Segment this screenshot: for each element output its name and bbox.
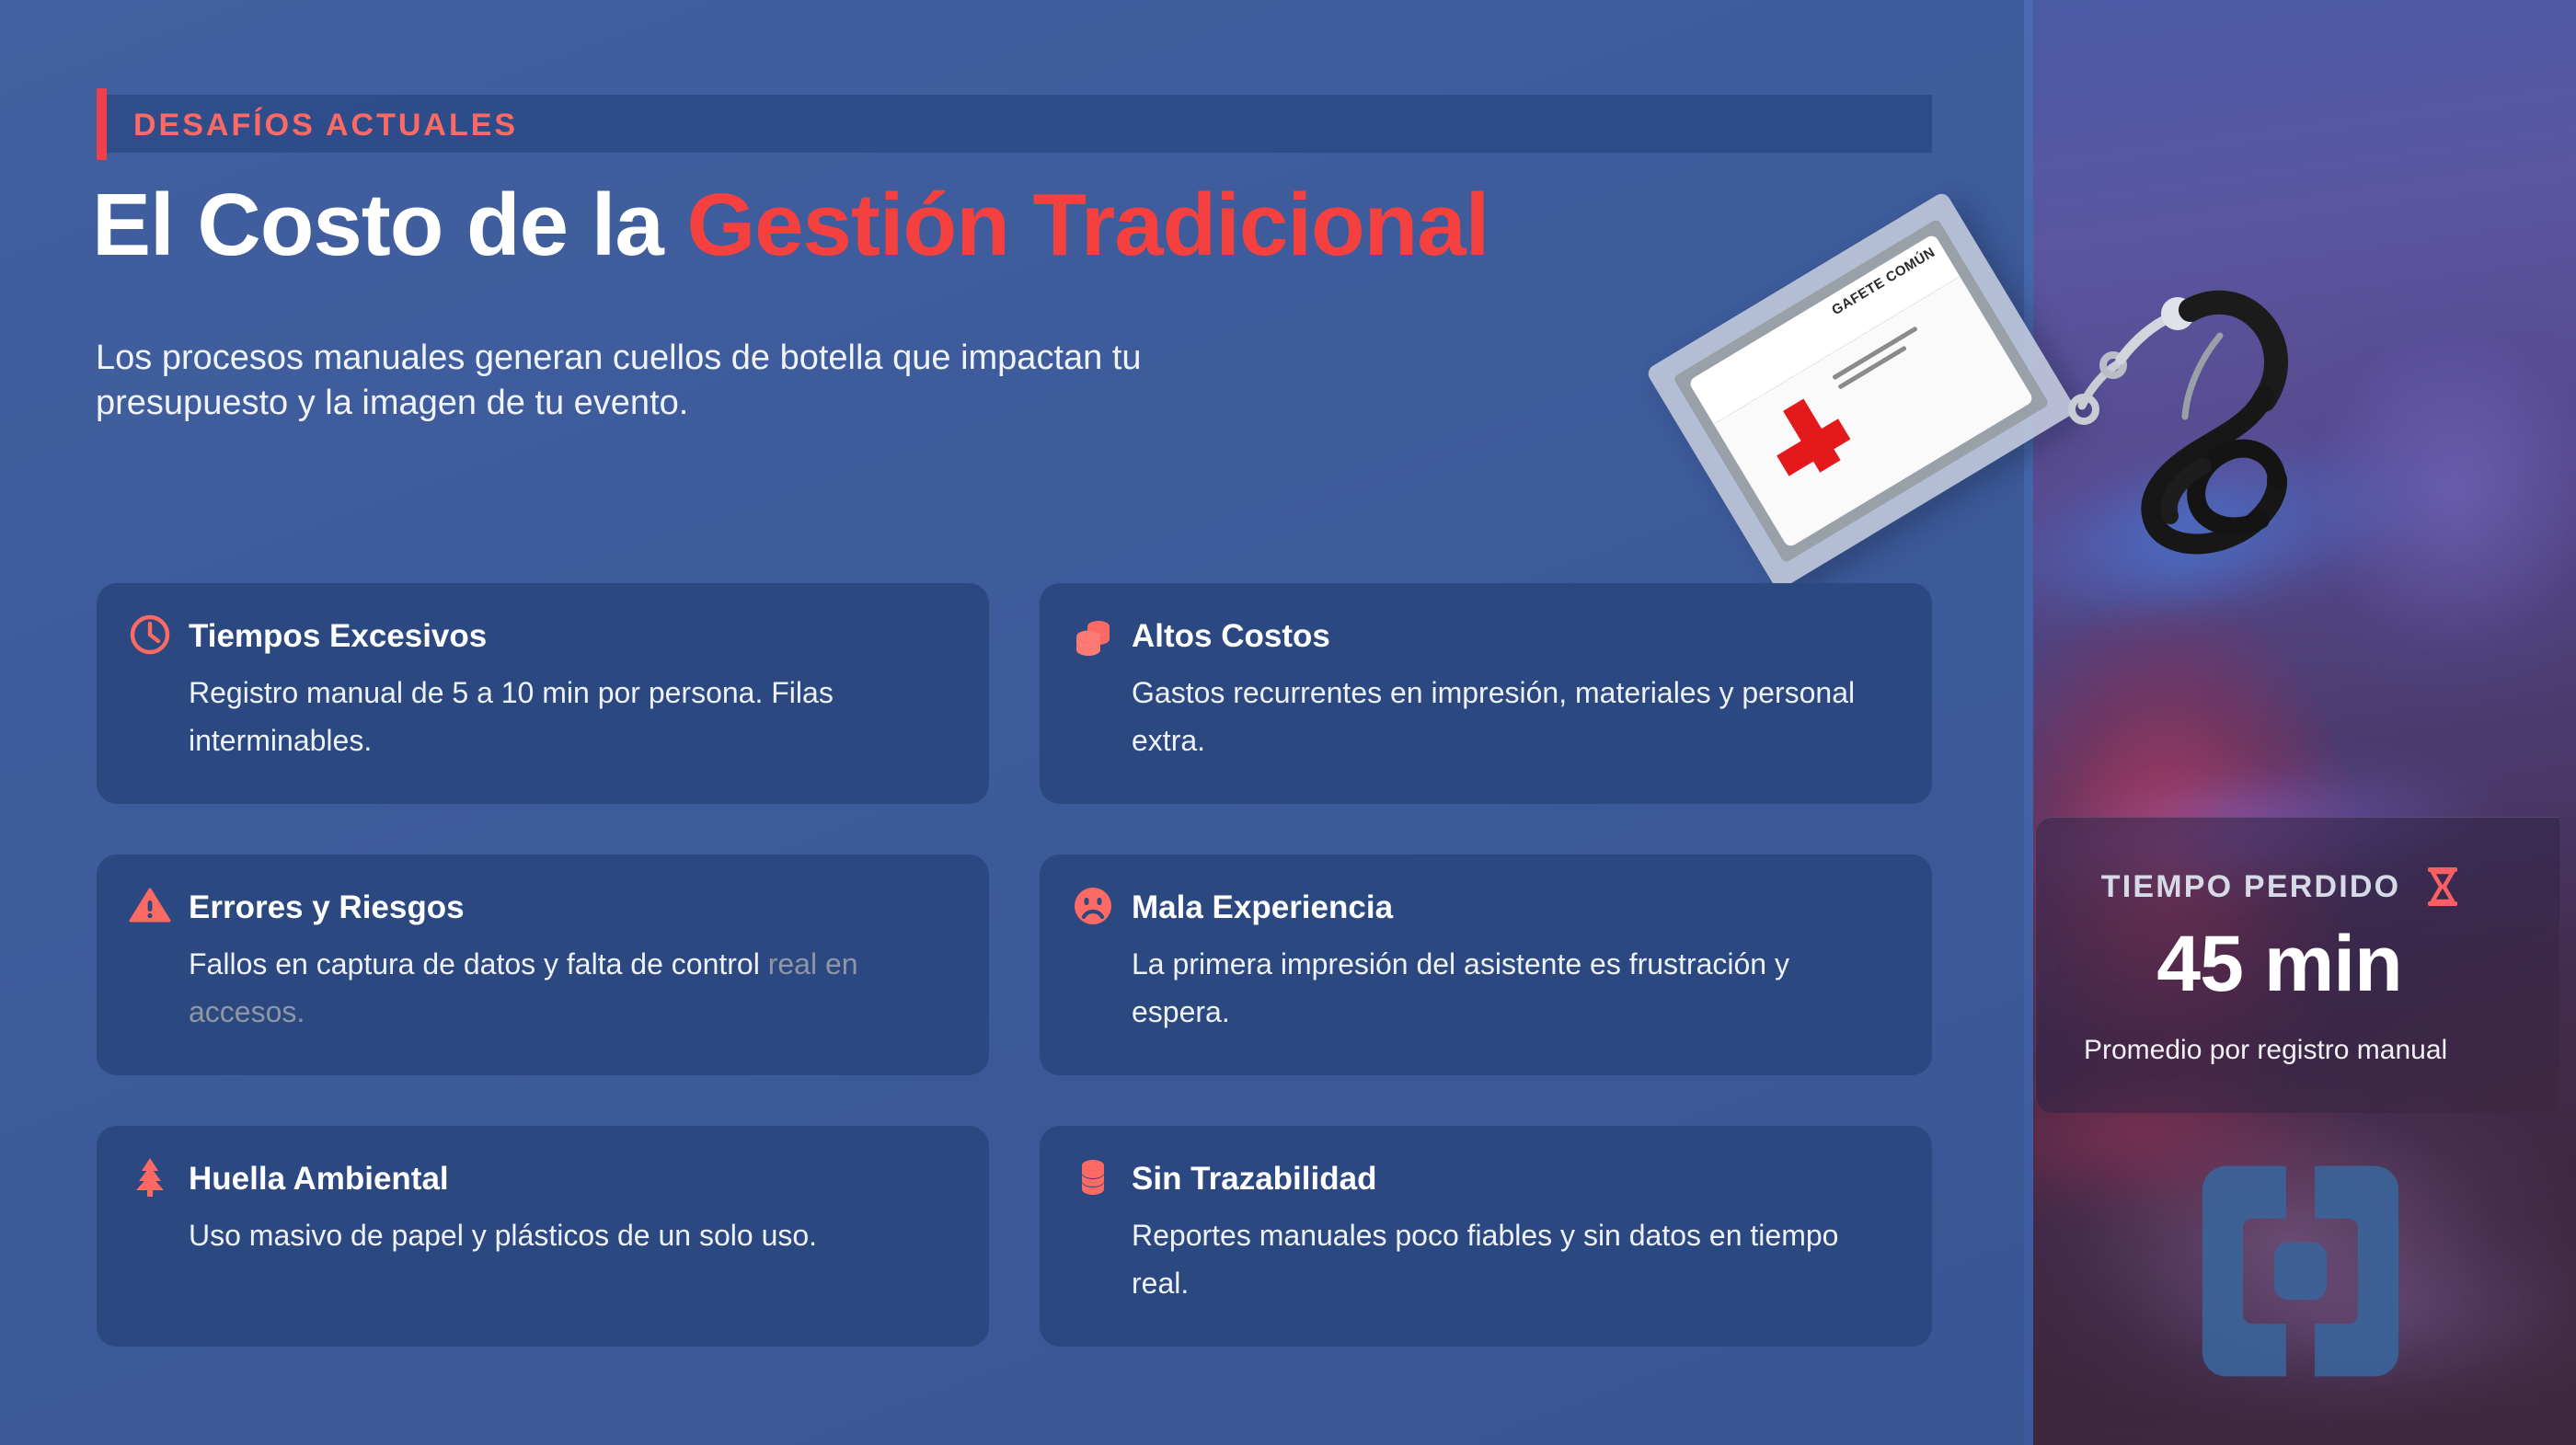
card-description: Registro manual de 5 a 10 min por person… — [189, 670, 952, 765]
card-header: Sin Trazabilidad — [1071, 1159, 1895, 1199]
lanyard-icon — [1973, 225, 2369, 612]
page-title: El Costo de la Gestión Tradicional — [92, 175, 1489, 276]
card-title: Altos Costos — [1132, 616, 1330, 655]
card-header: Tiempos Excesivos — [128, 616, 952, 657]
pine-tree-icon — [128, 1155, 172, 1199]
card-description: Reportes manuales poco fiables y sin dat… — [1132, 1212, 1895, 1308]
card-title: Tiempos Excesivos — [189, 616, 487, 655]
page-title-lead: El Costo de la — [92, 176, 686, 274]
stat-header: TIEMPO PERDIDO — [2036, 866, 2526, 908]
stat-label: TIEMPO PERDIDO — [2101, 869, 2401, 905]
challenge-card-mala-experiencia[interactable]: Mala Experiencia La primera impresión de… — [1040, 854, 1932, 1075]
database-icon — [1071, 1155, 1115, 1199]
card-title: Errores y Riesgos — [189, 888, 465, 926]
card-description-main: Fallos en captura de datos y falta de co… — [189, 947, 768, 981]
stat-card-tiempo-perdido: TIEMPO PERDIDO 45 min Promedio por regis… — [2035, 817, 2559, 1113]
challenge-card-sin-trazabilidad[interactable]: Sin Trazabilidad Reportes manuales poco … — [1040, 1126, 1932, 1347]
card-description: Uso masivo de papel y plásticos de un so… — [189, 1212, 952, 1260]
card-header: Mala Experiencia — [1071, 888, 1895, 928]
page-title-accent: Gestión Tradicional — [686, 176, 1489, 274]
eyebrow-label: DESAFÍOS ACTUALES — [133, 108, 518, 143]
warning-triangle-icon — [128, 884, 172, 928]
bracket-square-logo-icon — [2179, 1152, 2422, 1391]
challenge-card-tiempos-excesivos[interactable]: Tiempos Excesivos Registro manual de 5 a… — [97, 583, 989, 804]
stat-description: Promedio por registro manual — [2084, 1034, 2526, 1068]
card-header: Errores y Riesgos — [128, 888, 952, 928]
sad-face-icon — [1071, 884, 1115, 928]
card-title: Mala Experiencia — [1132, 888, 1393, 926]
card-title: Sin Trazabilidad — [1132, 1159, 1376, 1198]
vertical-accent-bar-icon — [97, 88, 107, 160]
slide-root: DESAFÍOS ACTUALES El Costo de la Gestión… — [0, 0, 2576, 1445]
card-title: Huella Ambiental — [189, 1159, 449, 1198]
card-description: Fallos en captura de datos y falta de co… — [189, 941, 952, 1037]
card-description: La primera impresión del asistente es fr… — [1132, 941, 1895, 1037]
hourglass-icon — [2424, 866, 2461, 908]
challenge-card-errores-y-riesgos[interactable]: Errores y Riesgos Fallos en captura de d… — [97, 854, 989, 1075]
badge-illustration: GAFETE COMÚN — [1670, 225, 2369, 612]
card-description: Gastos recurrentes en impresión, materia… — [1132, 670, 1895, 765]
card-header: Huella Ambiental — [128, 1159, 952, 1199]
page-subtitle: Los procesos manuales generan cuellos de… — [96, 336, 1154, 427]
panel-left-edge — [2024, 0, 2033, 1445]
card-header: Altos Costos — [1071, 616, 1895, 657]
stat-value: 45 min — [2036, 919, 2523, 1010]
clock-icon — [128, 613, 172, 657]
challenge-card-altos-costos[interactable]: Altos Costos Gastos recurrentes en impre… — [1040, 583, 1932, 804]
challenges-grid: Tiempos Excesivos Registro manual de 5 a… — [97, 583, 1937, 1347]
challenge-card-huella-ambiental[interactable]: Huella Ambiental Uso masivo de papel y p… — [97, 1126, 989, 1347]
coins-stack-icon — [1071, 613, 1115, 657]
